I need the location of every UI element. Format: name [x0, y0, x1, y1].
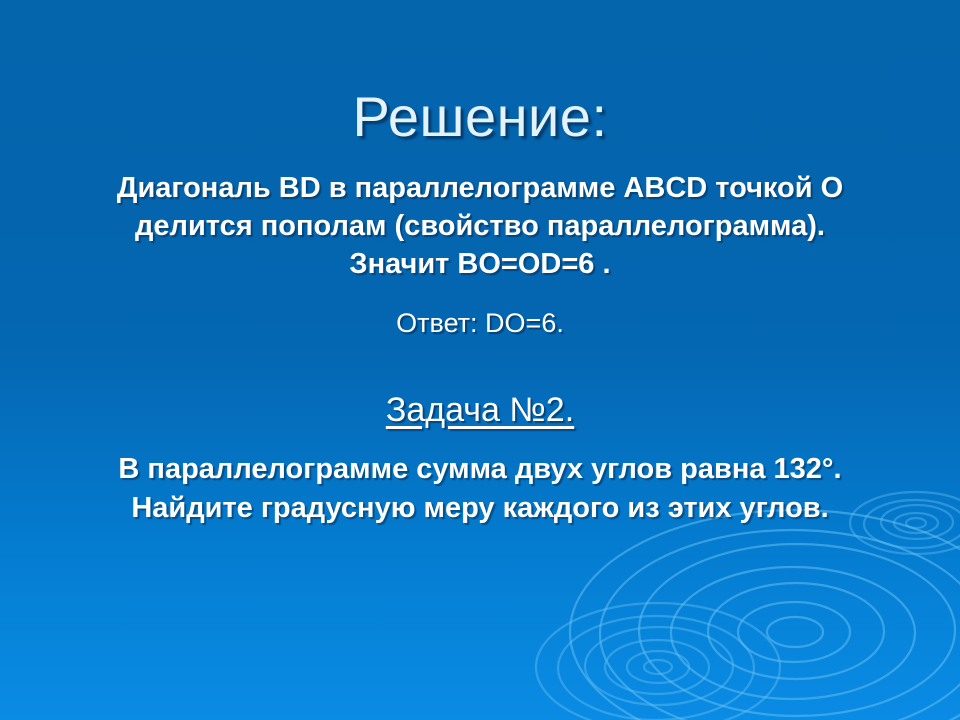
solution-line-1: Диагональ BD в параллелограмме ABCD точк…: [60, 170, 900, 208]
solution-block: Диагональ BD в параллелограмме ABCD точк…: [60, 170, 900, 341]
next-task-heading: Задача №2.: [0, 390, 960, 431]
solution-answer: Ответ: DO=6.: [60, 306, 900, 341]
solution-line-2: делится пополам (свойство параллелограмм…: [60, 208, 900, 246]
presentation-slide: Решение: Диагональ BD в параллелограмме …: [0, 0, 960, 720]
next-task-line-1: В параллелограмме сумма двух углов равна…: [55, 450, 905, 489]
next-task-heading-label: Задача №2.: [386, 391, 574, 429]
next-task-block: В параллелограмме сумма двух углов равна…: [55, 450, 905, 528]
slide-content: Решение: Диагональ BD в параллелограмме …: [0, 0, 960, 720]
solution-line-3: Значит BO=OD=6 .: [60, 246, 900, 284]
page-title: Решение:: [0, 88, 960, 147]
next-task-line-2: Найдите градусную меру каждого из этих у…: [55, 489, 905, 528]
